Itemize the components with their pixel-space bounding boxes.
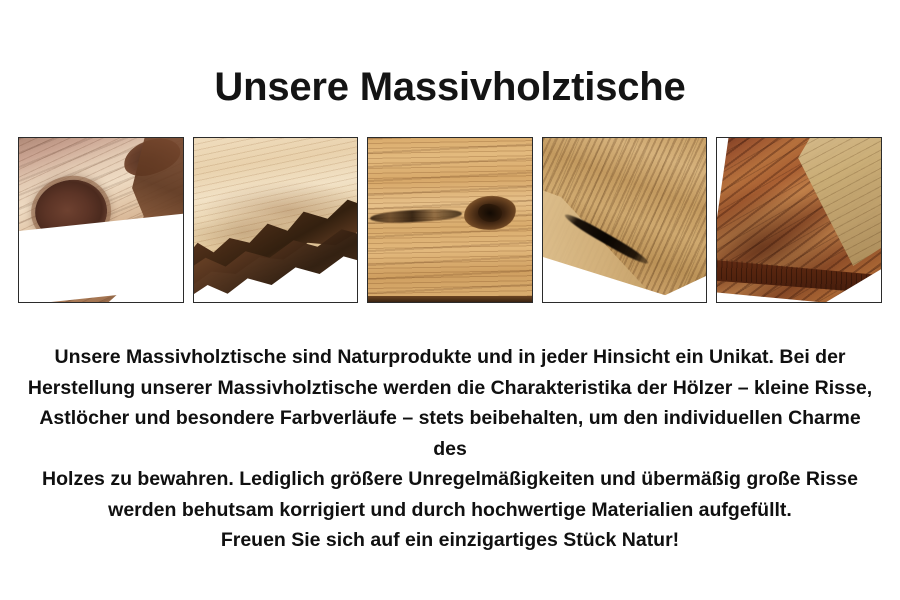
page-title: Unsere Massivholztische: [0, 62, 900, 112]
board-bottom-edge: [368, 296, 532, 302]
description-text: Unsere Massivholztische sind Naturproduk…: [20, 342, 880, 556]
gallery-image-1: [18, 137, 184, 303]
description-line: Astlöcher und besondere Farbverläufe – s…: [20, 403, 880, 464]
product-info-page: Unsere Massivholztische: [0, 0, 900, 600]
description-line: Unsere Massivholztische sind Naturproduk…: [20, 342, 880, 373]
gallery-image-4: [542, 137, 708, 303]
description-line: werden behutsam korrigiert und durch hoc…: [20, 495, 880, 526]
description-line: Freuen Sie sich auf ein einzigartiges St…: [20, 525, 880, 556]
gallery-image-2: [193, 137, 359, 303]
description-line: Holzes zu bewahren. Lediglich größere Un…: [20, 464, 880, 495]
gallery-image-3: [367, 137, 533, 303]
description-line: Herstellung unserer Massivholztische wer…: [20, 373, 880, 404]
wood-detail-gallery: [18, 137, 882, 303]
gallery-image-5: [716, 137, 882, 303]
